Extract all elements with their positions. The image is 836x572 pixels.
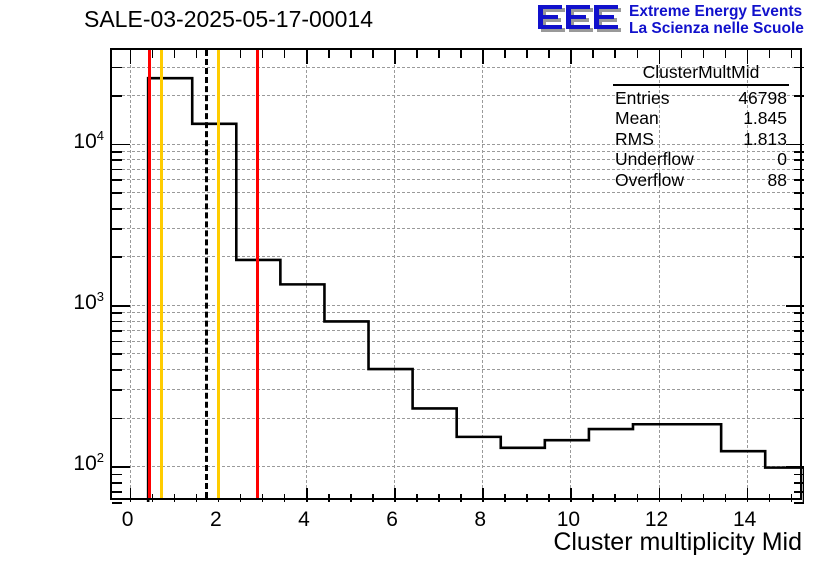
x-axis-tick-label: 4 [298,508,310,532]
stats-row-value: 0 [777,149,787,170]
stats-row-key: Underflow [615,149,694,170]
eee-logo-text: Extreme Energy Events La Scienza nelle S… [629,3,804,37]
stats-box: ClusterMultMid Entries46798Mean1.845RMS1… [613,62,789,190]
marker-line-black-mean [205,50,208,498]
eee-logo: Extreme Energy Events La Scienza nelle S… [537,2,833,40]
stats-row: Entries46798 [613,88,789,109]
stats-row-key: Entries [615,88,669,109]
stats-row-value: 46798 [738,88,787,109]
stats-row: RMS1.813 [613,129,789,150]
x-axis-tick-label: 8 [474,508,486,532]
stats-row: Overflow88 [613,170,789,191]
stats-row-value: 88 [768,170,787,191]
stats-row: Underflow0 [613,149,789,170]
x-axis-tick-label: 0 [122,508,134,532]
stats-rows: Entries46798Mean1.845RMS1.813Underflow0O… [613,88,789,191]
x-axis-title: Cluster multiplicity Mid [553,528,802,557]
marker-line-red-high [256,50,259,498]
stats-row-key: Mean [615,108,659,129]
stats-row: Mean1.845 [613,108,789,129]
stats-row-key: Overflow [615,170,684,191]
marker-line-orange-low [160,50,163,498]
y-axis-tick-label: 103 [73,289,104,315]
stats-row-value: 1.845 [743,108,787,129]
eee-logo-icon [537,3,623,37]
marker-line-orange-high [217,50,220,498]
stats-row-key: RMS [615,129,654,150]
root-canvas: SALE-03-2025-05-17-00014 [0,0,836,572]
y-axis-tick-label: 104 [73,128,104,154]
x-axis-tick-label: 2 [210,508,222,532]
y-tick-minor-right [794,502,804,504]
stats-row-value: 1.813 [743,129,787,150]
eee-logo-line2: La Scienza nelle Scuole [629,20,804,37]
page-title: SALE-03-2025-05-17-00014 [84,6,373,33]
y-tick-minor [112,502,122,504]
marker-line-red-low [148,50,151,498]
x-axis-tick-label: 6 [386,508,398,532]
y-axis-tick-label: 102 [73,450,104,476]
stats-title: ClusterMultMid [613,62,789,86]
eee-logo-line1: Extreme Energy Events [629,3,804,20]
